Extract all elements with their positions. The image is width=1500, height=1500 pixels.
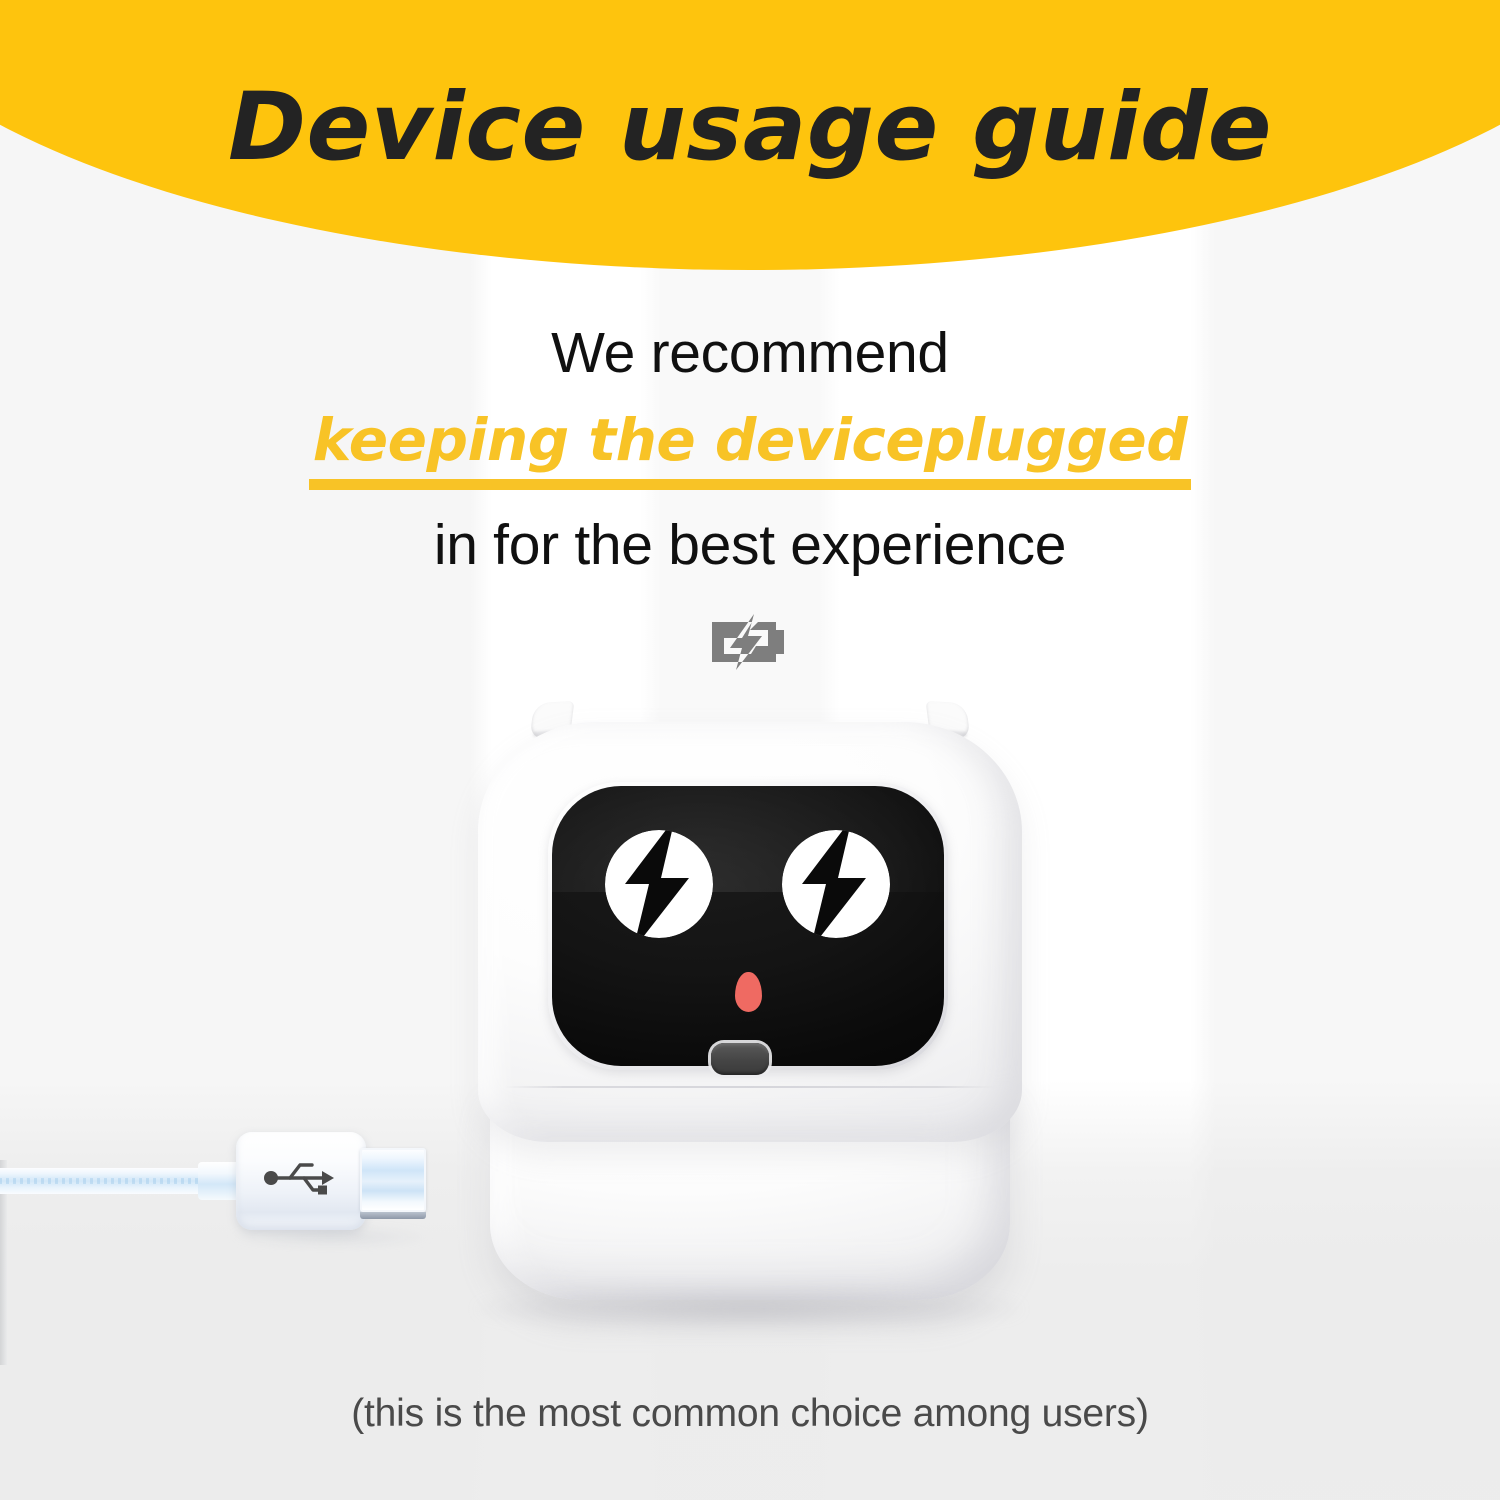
cable-drop-shadow bbox=[230, 1228, 430, 1246]
device-power-button[interactable] bbox=[711, 1043, 769, 1075]
recommendation-line-2: in for the best experience bbox=[0, 508, 1500, 584]
usb-connector-shell bbox=[236, 1132, 366, 1230]
battery-charging-icon bbox=[706, 612, 794, 672]
eye-left-lightning-bolt-icon bbox=[605, 830, 713, 938]
robot-speaker-device[interactable] bbox=[470, 700, 1030, 1300]
recommendation-highlight-wrap: keeping the deviceplugged bbox=[0, 406, 1500, 490]
page-title: Device usage guide bbox=[0, 0, 1500, 270]
usb-connector-tip bbox=[360, 1148, 426, 1212]
footer-caption: (this is the most common choice among us… bbox=[0, 1392, 1500, 1436]
device-drop-shadow bbox=[476, 1288, 1022, 1330]
recommendation-text-block: We recommend keeping the deviceplugged i… bbox=[0, 316, 1500, 584]
usb-trident-icon bbox=[260, 1158, 344, 1198]
device-screen bbox=[552, 786, 944, 1066]
recommendation-highlight: keeping the deviceplugged bbox=[309, 406, 1191, 490]
device-seam-line bbox=[504, 1086, 996, 1088]
header-banner: Device usage guide bbox=[0, 0, 1500, 270]
guide-card: Device usage guide We recommend keeping … bbox=[0, 0, 1500, 1500]
device-nose-indicator bbox=[735, 972, 762, 1012]
recommendation-line-1: We recommend bbox=[0, 316, 1500, 392]
usb-cable-cord bbox=[0, 1150, 260, 1212]
eye-right-lightning-bolt-icon bbox=[782, 830, 890, 938]
usb-connector[interactable] bbox=[236, 1132, 430, 1230]
device-screen-bezel bbox=[548, 782, 948, 1070]
